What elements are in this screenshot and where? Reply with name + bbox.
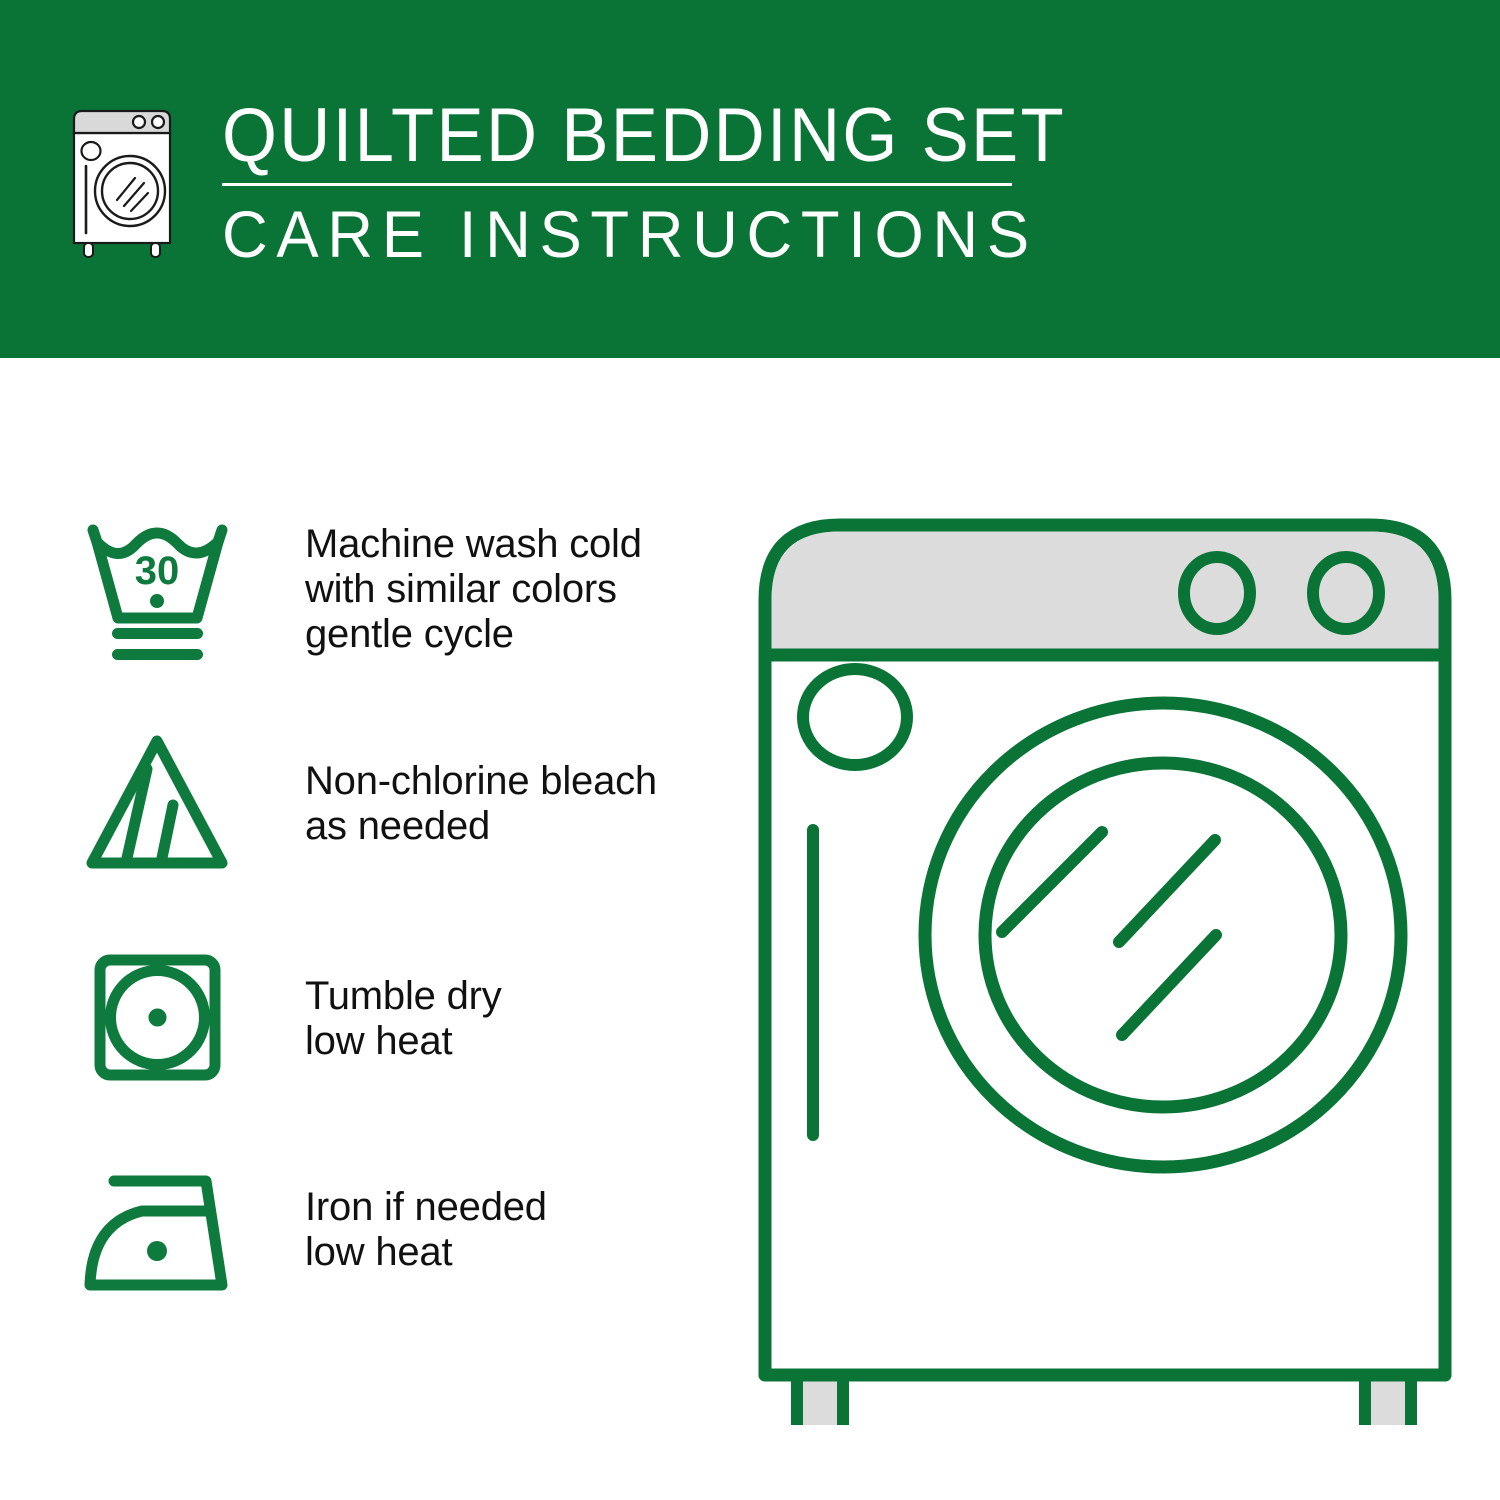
washing-machine-logo-icon	[62, 103, 192, 263]
care-row: 30 Machine wash cold with similar colors…	[70, 500, 730, 715]
header-titles: QUILTED BEDDING SET CARE INSTRUCTIONS	[222, 95, 1082, 272]
header-band: QUILTED BEDDING SET CARE INSTRUCTIONS	[0, 0, 1500, 358]
non-chlorine-bleach-icon	[70, 715, 245, 890]
front-load-washing-machine-illustration	[745, 495, 1465, 1425]
drum-inner-ring	[985, 763, 1341, 1107]
dispenser-button	[803, 669, 907, 765]
care-row: Non-chlorine bleach as needed	[70, 715, 730, 930]
care-label: Iron if needed low heat	[305, 1145, 547, 1275]
wash-temperature-value: 30	[135, 549, 180, 593]
machine-wash-30-gentle-icon: 30	[70, 500, 245, 675]
iron-low-heat-icon	[70, 1145, 245, 1320]
care-label: Machine wash cold with similar colors ge…	[305, 500, 642, 657]
page-subtitle: CARE INSTRUCTIONS	[222, 196, 1048, 272]
care-label: Non-chlorine bleach as needed	[305, 715, 657, 849]
care-row: Iron if needed low heat	[70, 1145, 730, 1360]
control-knob-right	[1313, 557, 1379, 629]
machine-leg-left	[797, 1375, 843, 1425]
care-instruction-list: 30 Machine wash cold with similar colors…	[70, 500, 730, 1360]
tumble-dry-low-icon	[70, 930, 245, 1105]
page-title: QUILTED BEDDING SET	[222, 95, 1022, 177]
care-instructions-page: QUILTED BEDDING SET CARE INSTRUCTIONS 30	[0, 0, 1500, 1500]
care-label: Tumble dry low heat	[305, 930, 502, 1064]
header-content: QUILTED BEDDING SET CARE INSTRUCTIONS	[62, 95, 1062, 275]
control-knob-left	[1184, 557, 1250, 629]
care-row: Tumble dry low heat	[70, 930, 730, 1145]
machine-leg-right	[1365, 1375, 1411, 1425]
title-divider	[222, 183, 1012, 186]
